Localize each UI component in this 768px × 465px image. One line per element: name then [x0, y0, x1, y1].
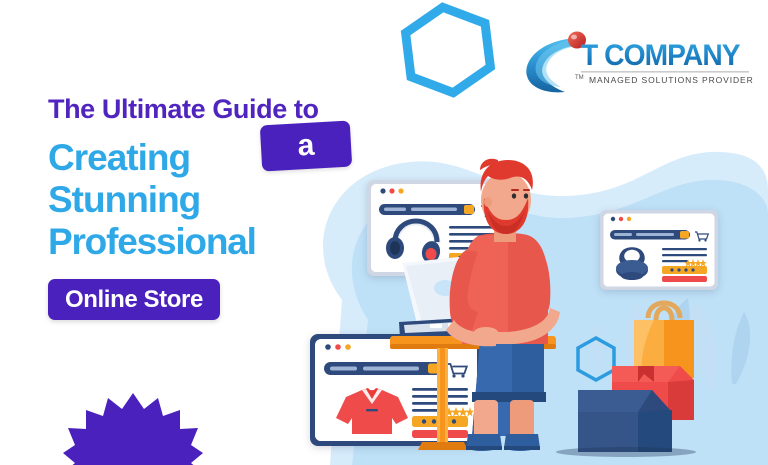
banner-canvas: T COMPANY TM MANAGED SOLUTIONS PROVIDER …	[0, 0, 768, 465]
badge-online-store-label: Online Store	[65, 286, 203, 314]
ecommerce-hero-illustration	[282, 0, 768, 465]
browser-card-kettlebell	[600, 210, 718, 290]
browser-card-tshirt	[310, 334, 482, 446]
badge-online-store: Online Store	[48, 279, 220, 320]
starburst-badge-shape	[63, 393, 203, 465]
